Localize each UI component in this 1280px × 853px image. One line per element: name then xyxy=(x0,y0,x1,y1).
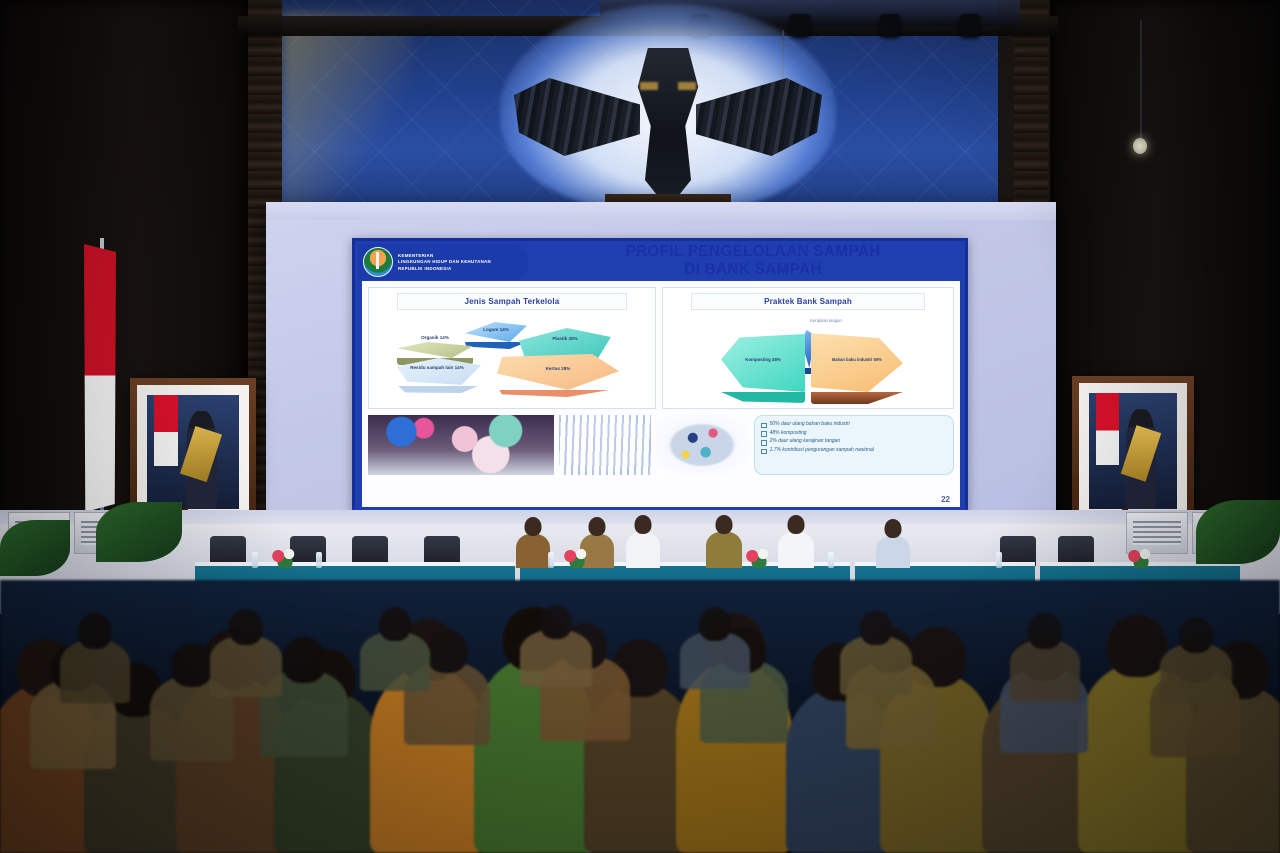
audience-head xyxy=(229,609,263,645)
panelist-head xyxy=(885,519,902,538)
indonesian-flag xyxy=(84,244,116,512)
audience-member xyxy=(60,639,130,703)
pie-chart-right: Kerajinan tangan Komposting 48% Bahan ba… xyxy=(663,310,953,410)
flower-arrangement xyxy=(742,548,776,568)
audience-member xyxy=(1160,643,1232,705)
chart-panel-praktek-bank-sampah: Praktek Bank Sampah Kerajinan tangan Kom… xyxy=(662,287,954,409)
slide-bullet-box: 50% daur ulang bahan baku industri 48% k… xyxy=(754,415,954,475)
audience-member xyxy=(840,635,912,695)
garuda-eye xyxy=(640,82,658,90)
pie-label-industri: Bahan baku industri 50% xyxy=(811,357,903,362)
panelist xyxy=(626,532,660,568)
photo-recycled-tray xyxy=(656,415,748,475)
presentation-slide: KEMENTERIAN LINGKUNGAN HIDUP DAN KEHUTAN… xyxy=(352,238,968,514)
panelist-head xyxy=(716,515,733,534)
audience-head xyxy=(426,629,468,673)
audience-head xyxy=(1107,615,1167,677)
bullet-text: 2% daur ulang kerajinan tangan xyxy=(770,438,841,445)
bullet-text: 1.7% kontribusi pengurangan sampah nasio… xyxy=(770,447,874,454)
projection-screen-top-edge xyxy=(266,202,1056,220)
garuda-body xyxy=(632,48,704,198)
conference-hall-photo: KEMENTERIAN LINGKUNGAN HIDUP DAN KEHUTAN… xyxy=(0,0,1280,853)
water-bottle xyxy=(828,552,834,568)
audience-member xyxy=(680,631,750,689)
ministry-logo-plate: KEMENTERIAN LINGKUNGAN HIDUP DAN KEHUTAN… xyxy=(358,244,528,280)
audience-member xyxy=(360,631,430,691)
pie-slice-logam: Logam 14% xyxy=(465,322,527,342)
pie-slice-organik: Organik 14% xyxy=(397,342,473,358)
pie-slice-komposting: Komposting 48% xyxy=(721,334,805,392)
audience-head xyxy=(699,607,731,641)
panelist-head xyxy=(589,517,606,536)
pie-slice-industri: Bahan baku industri 50% xyxy=(811,332,903,392)
panelist xyxy=(778,532,814,568)
ministry-name: KEMENTERIAN LINGKUNGAN HIDUP DAN KEHUTAN… xyxy=(398,253,491,272)
official-portrait-right xyxy=(1072,376,1194,526)
bullet-text: 50% daur ulang bahan baku industri xyxy=(770,421,850,428)
ministry-line-2: LINGKUNGAN HIDUP DAN KEHUTANAN xyxy=(398,259,491,265)
photo-bank-sampah-products xyxy=(368,415,554,475)
slide-header: KEMENTERIAN LINGKUNGAN HIDUP DAN KEHUTAN… xyxy=(355,241,971,285)
portrait-sash xyxy=(180,426,222,482)
portrait-mat xyxy=(137,385,249,519)
klhk-logo-icon xyxy=(363,247,393,277)
panelist xyxy=(876,536,910,568)
checkbox-bullet-icon xyxy=(761,431,767,437)
pie-label-logam: Logam 14% xyxy=(465,327,527,332)
pie-label-organik: Organik 14% xyxy=(397,335,473,340)
checkbox-bullet-icon xyxy=(761,423,767,429)
flower-arrangement xyxy=(268,548,302,568)
pendant-lamp-bulb xyxy=(1133,138,1147,154)
pie-small-caption: Kerajinan tangan xyxy=(771,318,881,323)
decorative-plant xyxy=(1196,500,1280,564)
checkbox-bullet-icon xyxy=(761,440,767,446)
ministry-line-3: REPUBLIK INDONESIA xyxy=(398,266,491,272)
panelist xyxy=(516,534,550,568)
bullet-item: 48% komposting xyxy=(761,430,947,437)
pendant-lamp-cord xyxy=(1140,20,1142,140)
water-bottle xyxy=(316,552,322,568)
audience-member xyxy=(520,629,592,687)
flower-arrangement xyxy=(1124,548,1158,568)
decorative-plant xyxy=(96,502,182,562)
pie-label-komposting: Komposting 48% xyxy=(721,357,805,362)
audience-head xyxy=(78,613,112,649)
chart-title-right: Praktek Bank Sampah xyxy=(691,293,925,310)
bullet-item: 1.7% kontribusi pengurangan sampah nasio… xyxy=(761,447,947,454)
slide-title-line-1: PROFIL PENGELOLAAN SAMPAH xyxy=(541,243,965,261)
audience-head xyxy=(282,637,326,683)
slide-body: Jenis Sampah Terkelola Logam 14% Plastik… xyxy=(362,281,960,507)
audience-head xyxy=(379,607,411,641)
audience-head xyxy=(1028,613,1062,649)
garuda-eye xyxy=(678,82,696,90)
audience xyxy=(0,580,1280,853)
portrait-sash xyxy=(1120,425,1161,482)
audience-member xyxy=(210,635,282,697)
panelist xyxy=(706,532,742,568)
decorative-plant xyxy=(0,520,70,576)
panelist-head xyxy=(525,517,542,536)
product-photo-strip xyxy=(368,415,748,475)
bullet-text: 48% komposting xyxy=(770,430,807,437)
slide-page-number: 22 xyxy=(941,495,950,504)
pie-chart-left: Logam 14% Plastik 30% Organik 14% Residu… xyxy=(369,310,655,410)
panelist-head xyxy=(635,515,652,534)
portrait-mat xyxy=(1079,383,1187,519)
garuda-sculpture xyxy=(512,26,824,202)
pie-slice-kertas: Kertas 28% xyxy=(497,354,619,390)
chart-panel-jenis-sampah: Jenis Sampah Terkelola Logam 14% Plastik… xyxy=(368,287,656,409)
stage-spotlight xyxy=(960,14,980,36)
photo-woven-basket xyxy=(559,415,651,475)
water-bottle xyxy=(252,552,258,568)
pie-label-plastik: Plastik 30% xyxy=(519,336,611,341)
audience-head xyxy=(540,605,572,639)
slide-title: PROFIL PENGELOLAAN SAMPAH DI BANK SAMPAH xyxy=(541,243,965,278)
portrait-image xyxy=(1089,393,1177,509)
audience-head xyxy=(1179,617,1213,653)
audience-head xyxy=(860,611,892,645)
garuda-wing-right xyxy=(696,78,822,156)
water-bottle xyxy=(996,552,1002,568)
audience-member xyxy=(1010,639,1080,701)
chart-title-left: Jenis Sampah Terkelola xyxy=(397,293,628,310)
bullet-item: 2% daur ulang kerajinan tangan xyxy=(761,438,947,445)
water-bottle xyxy=(548,552,554,568)
pie-label-residu: Residu sampah lain 14% xyxy=(393,365,481,370)
panelist-head xyxy=(788,515,805,534)
bullet-item: 50% daur ulang bahan baku industri xyxy=(761,421,947,428)
ministry-line-1: KEMENTERIAN xyxy=(398,253,491,259)
garuda-wing-left xyxy=(514,78,640,156)
portrait-image xyxy=(147,395,239,509)
backdrop-warm-glow xyxy=(282,14,412,214)
flower-arrangement xyxy=(560,548,594,568)
pie-slice-residu: Residu sampah lain 14% xyxy=(393,358,481,386)
stage-spotlight xyxy=(880,14,900,36)
slide-title-line-2: DI BANK SAMPAH xyxy=(541,261,965,279)
audience-head xyxy=(171,643,213,687)
checkbox-bullet-icon xyxy=(761,449,767,455)
pie-label-kertas: Kertas 28% xyxy=(497,366,619,371)
